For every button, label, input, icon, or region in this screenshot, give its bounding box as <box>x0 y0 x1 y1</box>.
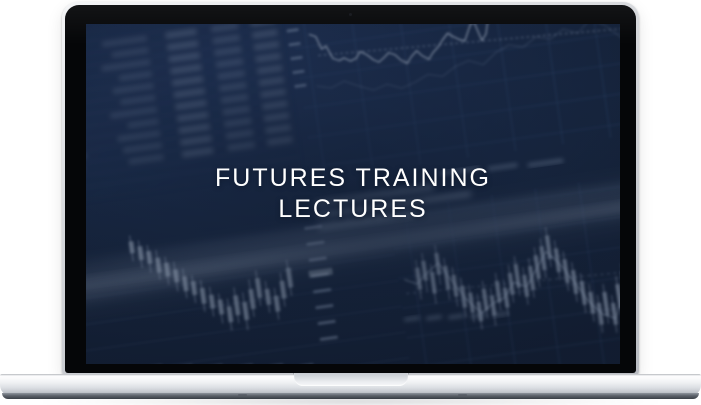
screen-display[interactable]: FUTURES TRAINING LECTURES <box>86 24 620 364</box>
screenshot-stage: FUTURES TRAINING LECTURES <box>0 0 701 405</box>
title-line-1: FUTURES TRAINING <box>215 163 491 194</box>
laptop-bezel: FUTURES TRAINING LECTURES <box>65 5 636 373</box>
page-title: FUTURES TRAINING LECTURES <box>86 24 620 364</box>
base-thumb-notch <box>294 373 408 386</box>
title-line-2: LECTURES <box>278 194 427 225</box>
webcam-icon <box>349 13 352 16</box>
base-drop-shadow <box>26 398 675 405</box>
laptop-base <box>0 374 701 405</box>
laptop-lid: FUTURES TRAINING LECTURES <box>62 2 639 376</box>
base-foot-right <box>458 394 467 396</box>
laptop-device: FUTURES TRAINING LECTURES <box>0 0 701 405</box>
base-foot-left <box>238 394 247 396</box>
